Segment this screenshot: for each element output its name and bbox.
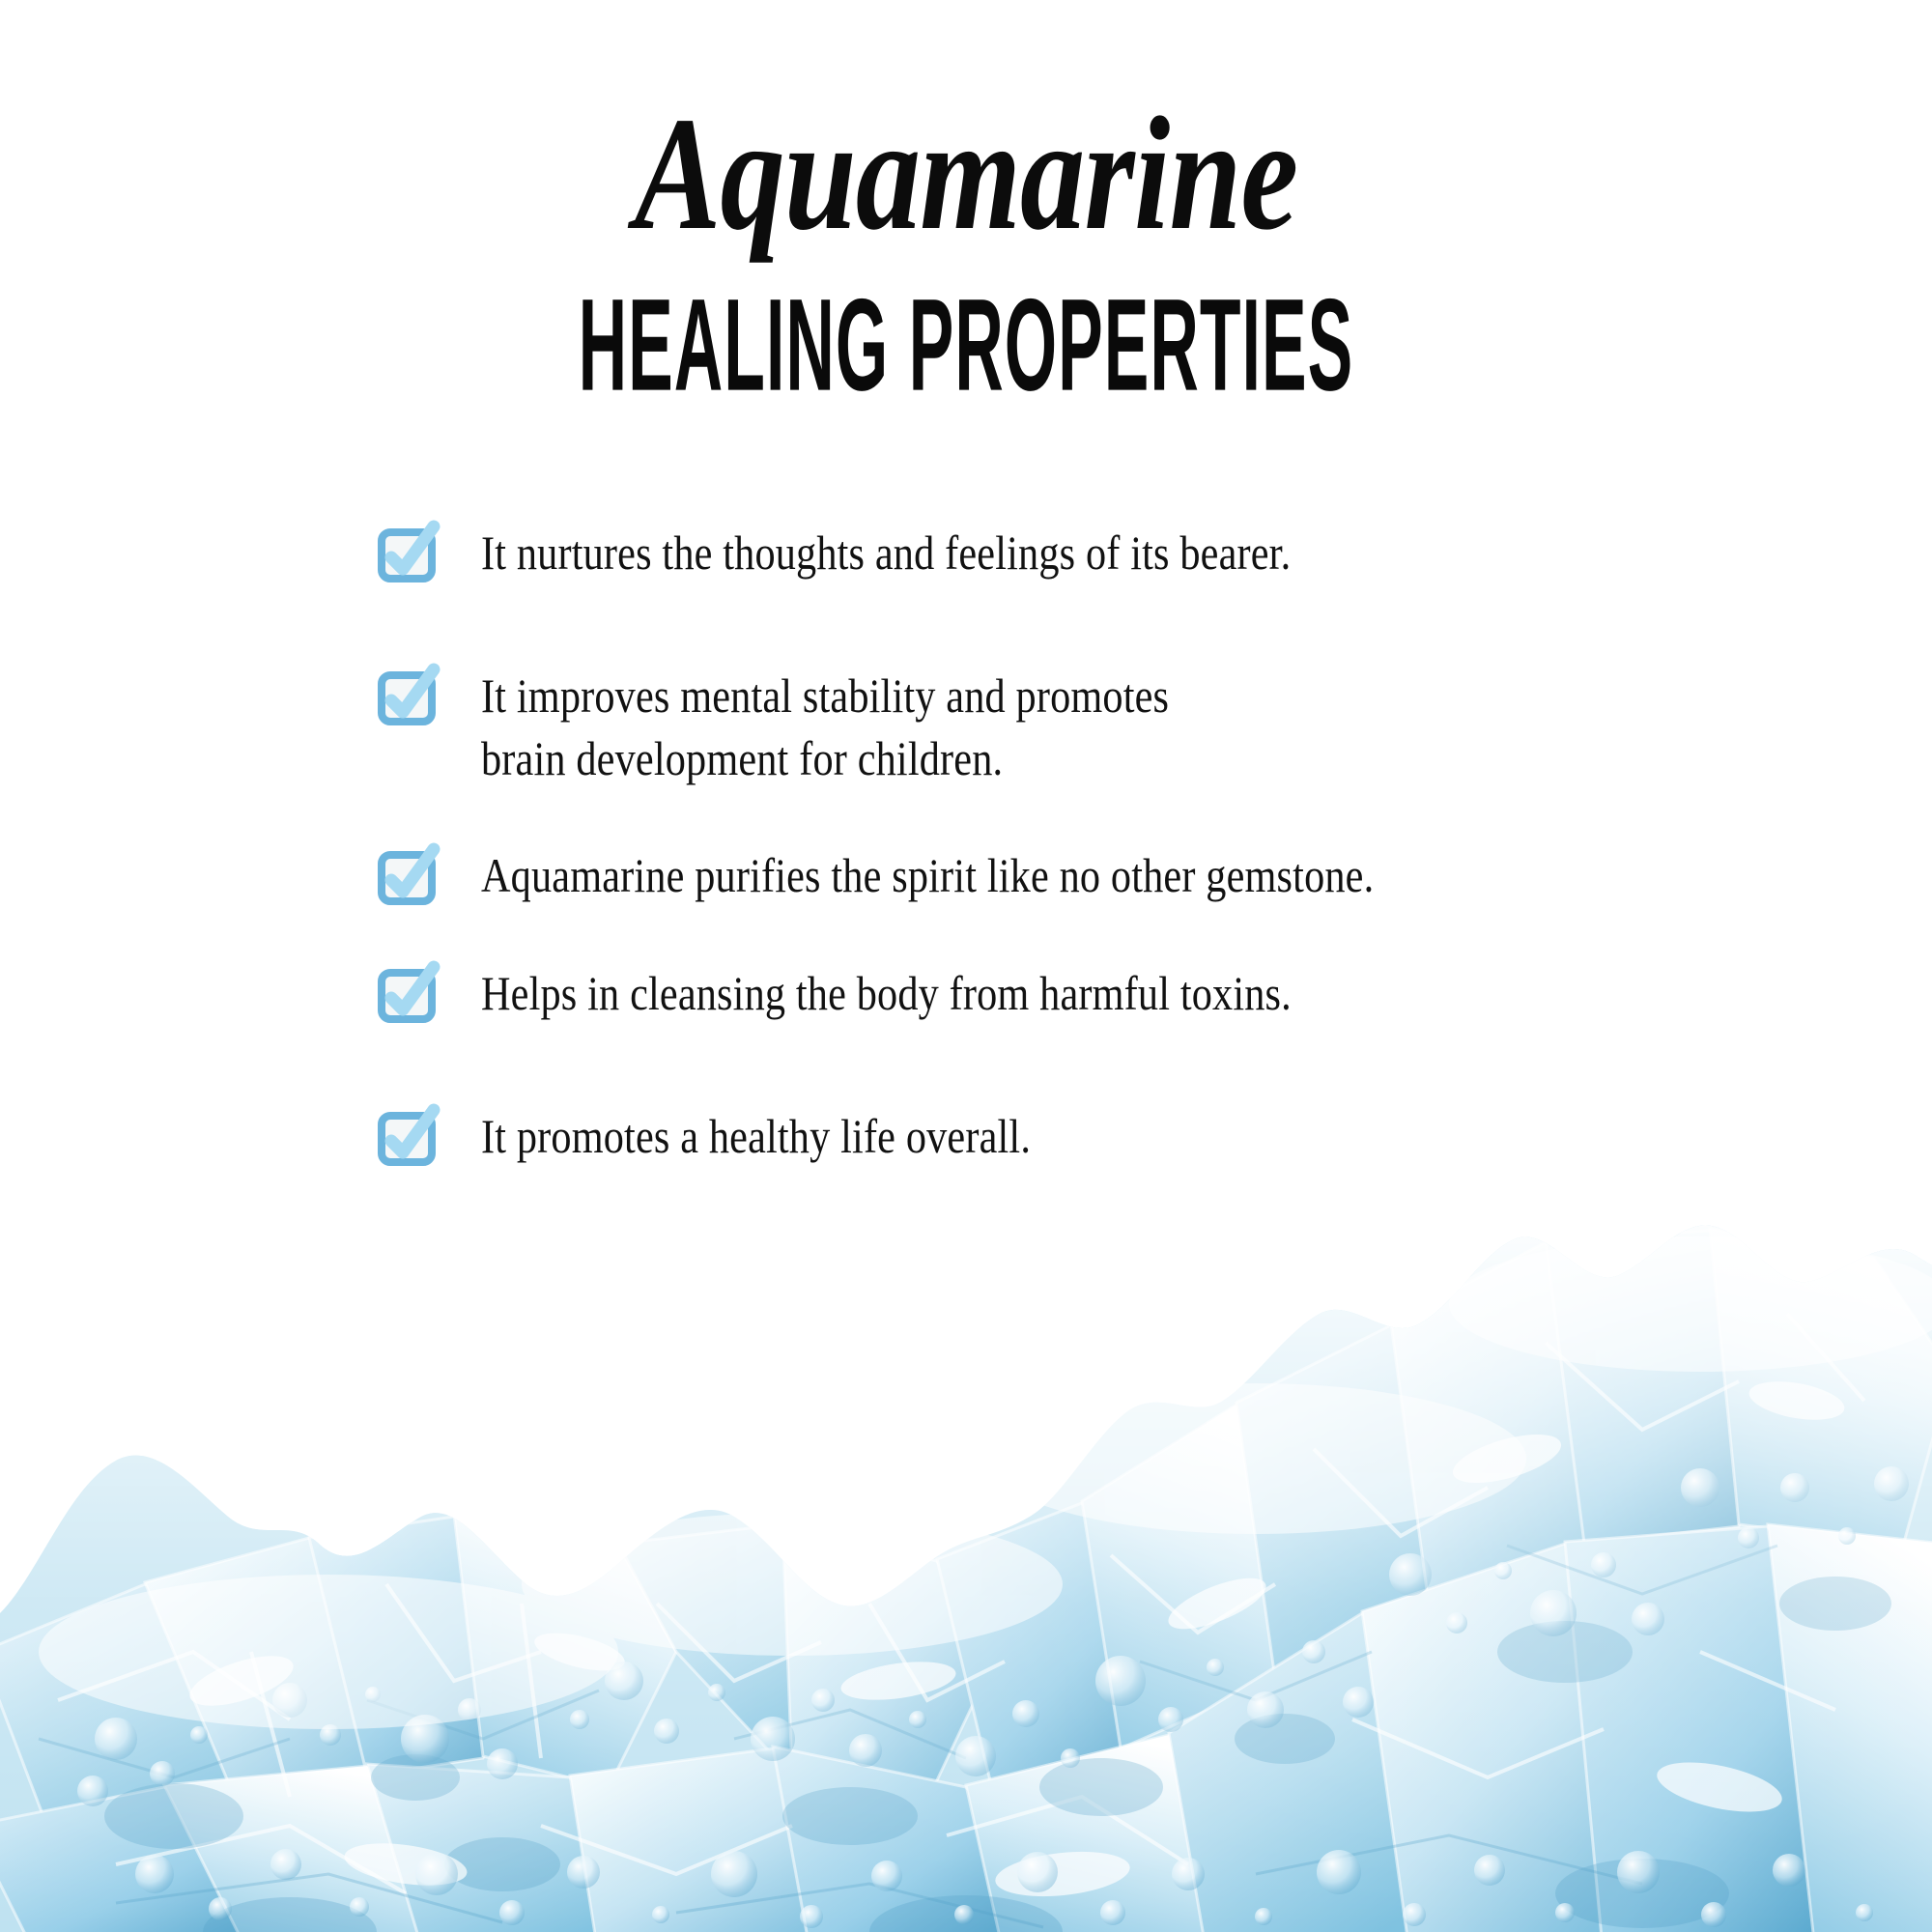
list-item: Aquamarine purifies the spirit like no o…: [379, 844, 1789, 908]
checked-checkbox-icon: [379, 668, 439, 728]
header: Aquamarine HEALING PROPERTIES: [0, 93, 1932, 408]
checked-checkbox-icon: [379, 526, 439, 585]
list-item-label: Helps in cleansing the body from harmful…: [481, 962, 1292, 1025]
list-item: It nurtures the thoughts and feelings of…: [379, 522, 1789, 585]
checked-checkbox-icon: [379, 1109, 439, 1169]
healing-properties-list: It nurtures the thoughts and feelings of…: [379, 522, 1789, 1169]
page-subtitle: HEALING PROPERTIES: [440, 280, 1492, 412]
list-item-label: It promotes a healthy life overall.: [481, 1105, 1031, 1168]
list-item: It improves mental stability and promote…: [379, 665, 1789, 790]
list-item: Helps in cleansing the body from harmful…: [379, 962, 1789, 1026]
list-item-label: Aquamarine purifies the spirit like no o…: [481, 844, 1374, 907]
list-item-label: It nurtures the thoughts and feelings of…: [481, 522, 1291, 584]
checked-checkbox-icon: [379, 848, 439, 908]
list-item: It promotes a healthy life overall.: [379, 1105, 1789, 1169]
page-title: Aquamarine: [193, 93, 1739, 255]
poster-canvas: Aquamarine HEALING PROPERTIES It nurture…: [0, 0, 1932, 1932]
ice-cubes-photo: [0, 1198, 1932, 1932]
list-item-label: It improves mental stability and promote…: [481, 665, 1169, 790]
checked-checkbox-icon: [379, 966, 439, 1026]
